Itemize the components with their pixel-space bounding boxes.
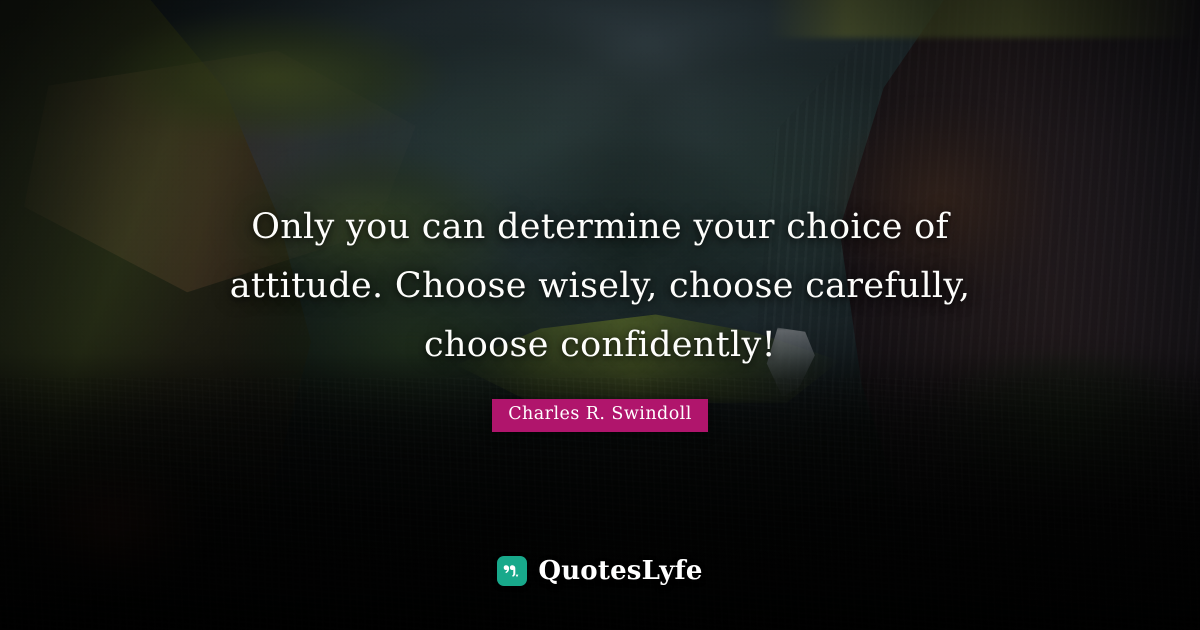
quote-card: Only you can determine your choice of at… <box>0 0 1200 630</box>
quote-mark-icon <box>497 556 527 586</box>
author-badge[interactable]: Charles R. Swindoll <box>492 399 708 432</box>
quote-block: Only you can determine your choice of at… <box>185 198 1015 432</box>
brand-logo[interactable]: QuotesLyfe <box>0 556 1200 586</box>
card-content: Only you can determine your choice of at… <box>0 0 1200 630</box>
quote-line-2: attitude. Choose wisely, choose carefull… <box>185 257 1015 316</box>
quote-line-1: Only you can determine your choice of <box>185 198 1015 257</box>
brand-name: QuotesLyfe <box>538 556 702 586</box>
quote-line-3: choose confidently! <box>185 316 1015 375</box>
